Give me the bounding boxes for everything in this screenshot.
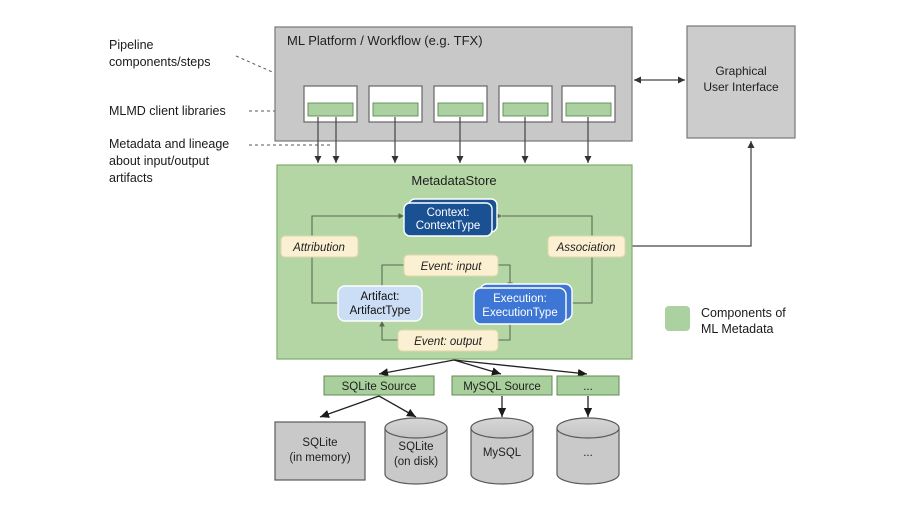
source-other[interactable]: ... (557, 376, 619, 395)
arrow-store-other-source (454, 360, 587, 374)
sqlite-in-memory-box[interactable] (275, 422, 365, 480)
annotation-line: artifacts (109, 171, 153, 185)
pipeline-component[interactable] (369, 86, 422, 122)
execution-label-line2: ExecutionType (482, 307, 557, 319)
mysql-source-label: MySQL Source (463, 381, 541, 393)
store-mysql[interactable]: MySQL (471, 418, 533, 484)
annotation-line: MLMD client libraries (109, 104, 226, 118)
mlmd-client-library-bar[interactable] (438, 103, 483, 116)
sqlite-on-disk-top (385, 418, 447, 438)
attribution-label: Attribution (292, 242, 345, 254)
event-input-label: Event: input (421, 261, 483, 273)
artifact-label-line1: Artifact: (361, 291, 400, 303)
source-to-store-arrows (320, 396, 588, 417)
store-to-source-arrows (379, 360, 587, 374)
annotation-line: about input/output (109, 154, 210, 168)
arrow-sqlitesrc-ondisk (379, 396, 416, 417)
metadatastore-box[interactable]: MetadataStore Context: ContextType Artif… (277, 165, 632, 359)
other-source-label: ... (583, 381, 593, 393)
mysql-top (471, 418, 533, 438)
node-artifact[interactable]: Artifact: ArtifactType (338, 286, 422, 321)
association-label: Association (556, 242, 616, 254)
annotation-line: Pipeline (109, 38, 154, 52)
pipeline-component[interactable] (499, 86, 552, 122)
node-context[interactable]: Context: ContextType (404, 199, 497, 236)
graphical-user-interface-box[interactable]: Graphical User Interface (687, 26, 795, 138)
gui-label-line2: User Interface (703, 80, 779, 94)
sqlite-in-memory-line2: (in memory) (289, 452, 351, 464)
ml-platform-box[interactable]: ML Platform / Workflow (e.g. TFX) (275, 27, 632, 141)
source-mysql[interactable]: MySQL Source (452, 376, 552, 395)
ml-platform-title: ML Platform / Workflow (e.g. TFX) (287, 33, 483, 48)
pipeline-component[interactable] (562, 86, 615, 122)
legend-line1: Components of (701, 306, 786, 320)
pipeline-component[interactable] (304, 86, 357, 122)
relation-event-output[interactable]: Event: output (398, 330, 498, 351)
arrow-store-gui (632, 141, 751, 246)
relation-attribution[interactable]: Attribution (281, 236, 358, 257)
legend: Components of ML Metadata (665, 306, 786, 336)
relation-association[interactable]: Association (548, 236, 625, 257)
annotation-line: Metadata and lineage (109, 137, 229, 151)
mlmd-client-library-bar[interactable] (308, 103, 353, 116)
sqlite-on-disk-line2: (on disk) (394, 456, 438, 468)
relation-event-input[interactable]: Event: input (404, 255, 498, 276)
arrow-store-sqlite-source (379, 360, 454, 374)
context-label-line2: ContextType (416, 220, 481, 232)
store-other[interactable]: ... (557, 418, 619, 484)
store-sqlite-in-memory[interactable]: SQLite (in memory) (275, 422, 365, 480)
metadatastore-title: MetadataStore (411, 173, 496, 188)
execution-label-line1: Execution: (493, 293, 547, 305)
mysql-line1: MySQL (483, 447, 522, 459)
node-execution[interactable]: Execution: ExecutionType (474, 284, 572, 324)
artifact-label-line2: ArtifactType (350, 305, 411, 317)
pipeline-component[interactable] (434, 86, 487, 122)
other-store-top (557, 418, 619, 438)
context-label-line1: Context: (427, 207, 470, 219)
store-sqlite-on-disk[interactable]: SQLite (on disk) (385, 418, 447, 484)
gui-label-line1: Graphical (715, 64, 766, 78)
annotation-line: components/steps (109, 55, 210, 69)
sqlite-in-memory-line1: SQLite (302, 437, 337, 449)
legend-swatch (665, 306, 690, 331)
arrow-sqlitesrc-inmemory (320, 396, 379, 417)
mlmd-architecture-diagram: Pipeline components/steps MLMD client li… (0, 0, 900, 506)
event-output-label: Event: output (414, 336, 483, 348)
sqlite-source-label: SQLite Source (342, 381, 417, 393)
mlmd-client-library-bar[interactable] (503, 103, 548, 116)
sqlite-on-disk-line1: SQLite (398, 441, 433, 453)
legend-line2: ML Metadata (701, 322, 774, 336)
mlmd-client-library-bar[interactable] (373, 103, 418, 116)
source-sqlite[interactable]: SQLite Source (324, 376, 434, 395)
mlmd-client-library-bar[interactable] (566, 103, 611, 116)
other-store-line1: ... (583, 447, 593, 459)
